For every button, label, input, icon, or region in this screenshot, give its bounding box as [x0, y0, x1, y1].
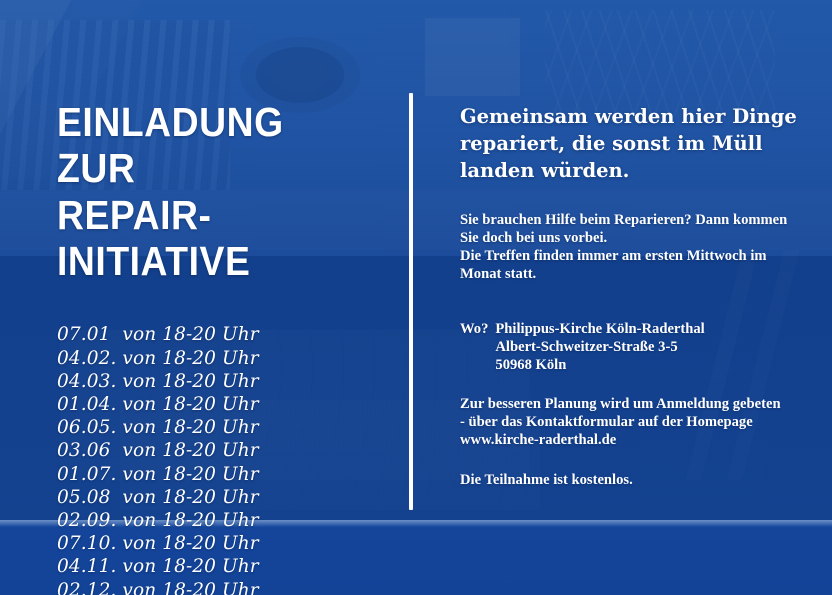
intro-paragraph: Sie brauchen Hilfe beim Reparieren? Dann… — [460, 211, 800, 283]
list-item: 07.10. von 18-20 Uhr — [57, 532, 392, 555]
list-item: 01.04. von 18-20 Uhr — [57, 393, 392, 416]
lead-statement: Gemeinsam werden hier Dinge repariert, d… — [460, 103, 800, 184]
date-list: 07.01 von 18-20 Uhr 04.02. von 18-20 Uhr… — [57, 323, 392, 595]
location-address: Philippus-Kirche Köln-Raderthal Albert-S… — [495, 320, 704, 374]
location-block: Wo?Philippus-Kirche Köln-Raderthal Alber… — [460, 302, 800, 374]
poster-title: EINLADUNG ZUR REPAIR-INITIATIVE — [57, 99, 362, 284]
vertical-divider — [409, 93, 413, 510]
list-item: 01.07. von 18-20 Uhr — [57, 463, 392, 486]
list-item: 04.11. von 18-20 Uhr — [57, 555, 392, 578]
location-label: Wo? — [460, 321, 488, 337]
list-item: 06.05. von 18-20 Uhr — [57, 416, 392, 439]
registration-paragraph: Zur besseren Planung wird um Anmeldung g… — [460, 395, 800, 449]
poster-content: EINLADUNG ZUR REPAIR-INITIATIVE 07.01 vo… — [0, 0, 832, 595]
list-item: 07.01 von 18-20 Uhr — [57, 323, 392, 346]
list-item: 03.06 von 18-20 Uhr — [57, 439, 392, 462]
list-item: 02.12. von 18-20 Uhr — [57, 579, 392, 595]
right-column: Gemeinsam werden hier Dinge repariert, d… — [460, 103, 800, 489]
left-column: EINLADUNG ZUR REPAIR-INITIATIVE 07.01 vo… — [57, 99, 392, 595]
poster-flyer: EINLADUNG ZUR REPAIR-INITIATIVE 07.01 vo… — [0, 0, 832, 595]
list-item: 02.09. von 18-20 Uhr — [57, 509, 392, 532]
list-item: 05.08 von 18-20 Uhr — [57, 486, 392, 509]
list-item: 04.03. von 18-20 Uhr — [57, 370, 392, 393]
list-item: 04.02. von 18-20 Uhr — [57, 347, 392, 370]
free-participation-note: Die Teilnahme ist kostenlos. — [460, 471, 800, 489]
